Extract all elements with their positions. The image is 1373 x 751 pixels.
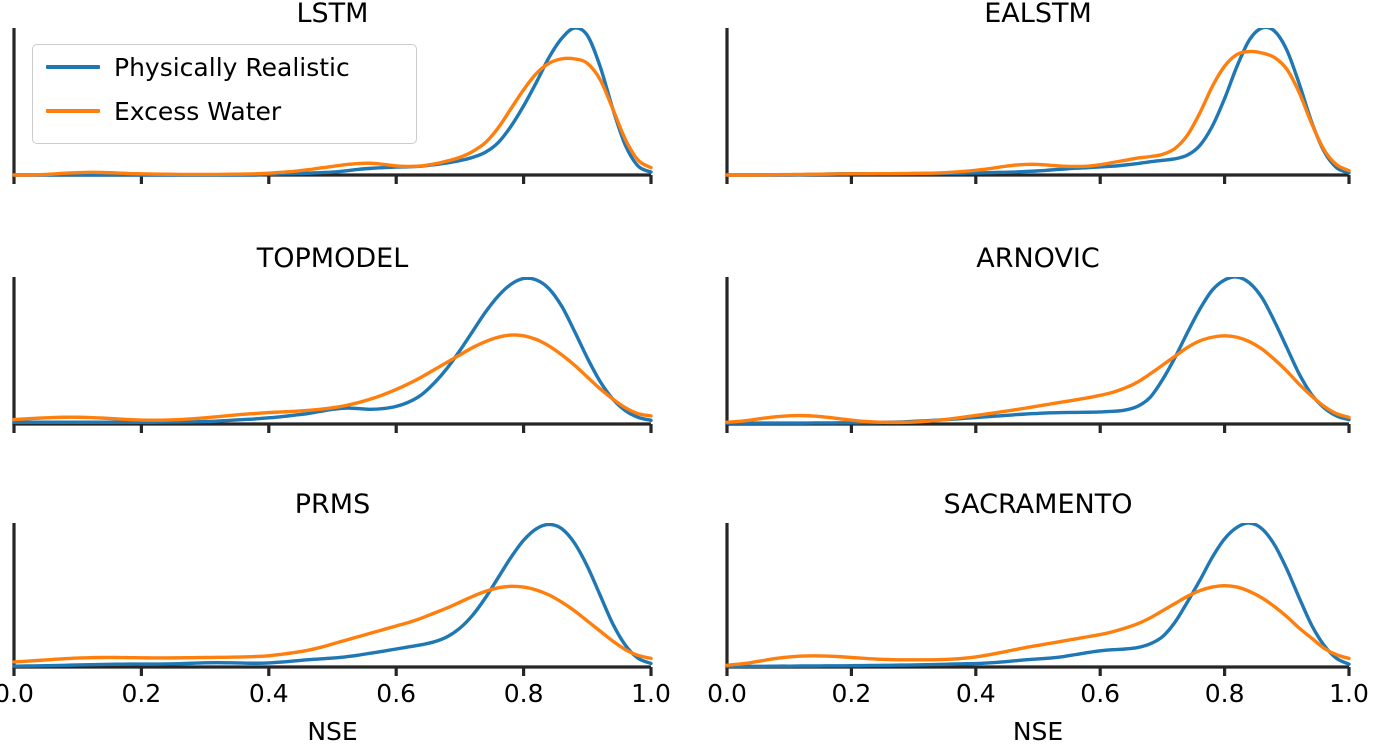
x-tick-label: 0.0 [0, 679, 34, 708]
kde-curve-physically-realistic [727, 28, 1349, 175]
x-tick-label: 0.4 [956, 679, 996, 708]
plot-ealstm [721, 28, 1357, 191]
x-tick-label: 0.2 [122, 679, 162, 708]
x-tick-label: 0.2 [832, 679, 872, 708]
panel-title-sacramento: SACRAMENTO [727, 489, 1349, 520]
x-tick-label: 0.8 [1205, 679, 1245, 708]
plot-sacramento [721, 523, 1357, 683]
x-tick-label: 0.6 [1080, 679, 1120, 708]
x-tick-label: 0.0 [707, 679, 747, 708]
legend: Physically RealisticExcess Water [32, 44, 417, 144]
panel-title-ealstm: EALSTM [727, 0, 1349, 29]
x-tick-label: 0.6 [376, 679, 416, 708]
kde-curve-excess-water [727, 586, 1349, 666]
x-tick-label: 0.4 [249, 679, 289, 708]
legend-line-swatch-icon [46, 65, 100, 70]
legend-label: Excess Water [114, 97, 281, 126]
kde-curve-physically-realistic [727, 277, 1349, 423]
panel-title-arnovic: ARNOVIC [727, 243, 1349, 274]
kde-curve-excess-water [727, 51, 1349, 175]
plot-topmodel [8, 277, 659, 440]
legend-entry: Excess Water [33, 89, 416, 133]
x-axis-label: NSE [727, 717, 1349, 746]
x-tick-label: 1.0 [631, 679, 671, 708]
kde-curve-excess-water [727, 336, 1349, 423]
plot-arnovic [721, 277, 1357, 440]
x-tick-label: 1.0 [1329, 679, 1369, 708]
legend-label: Physically Realistic [114, 53, 350, 82]
kde-curve-excess-water [14, 335, 651, 420]
kde-curve-excess-water [14, 586, 651, 662]
legend-line-swatch-icon [46, 109, 100, 114]
panel-title-topmodel: TOPMODEL [14, 243, 651, 274]
x-axis-label: NSE [14, 717, 651, 746]
panel-title-lstm: LSTM [14, 0, 651, 29]
plot-prms [8, 523, 659, 683]
kde-figure: LSTMEALSTMTOPMODELARNOVICPRMS0.00.20.40.… [0, 0, 1373, 751]
panel-title-prms: PRMS [14, 489, 651, 520]
legend-entry: Physically Realistic [33, 45, 416, 89]
x-tick-label: 0.8 [504, 679, 544, 708]
